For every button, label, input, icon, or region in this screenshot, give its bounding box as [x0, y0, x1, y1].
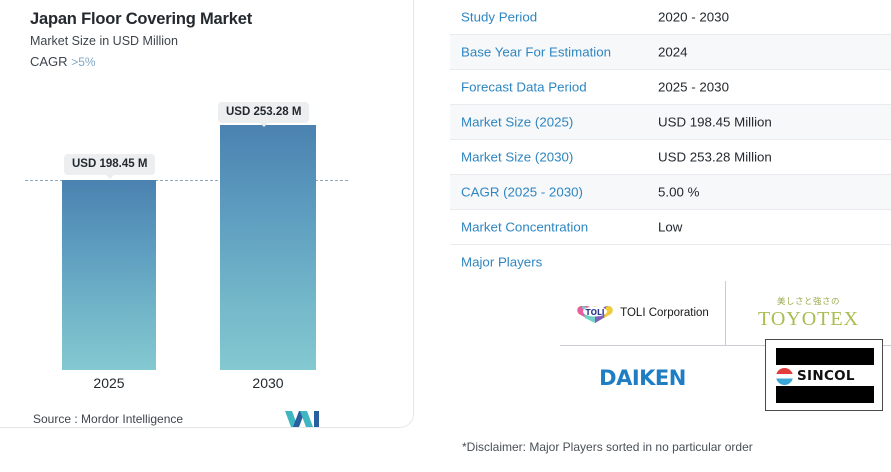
row-key: Market Concentration — [461, 220, 588, 235]
daiken-logo: DAIKEN — [599, 366, 686, 390]
source-text: Source : Mordor Intelligence — [33, 412, 183, 426]
sincol-bar-top — [776, 348, 874, 365]
table-row: Market Concentration Low — [450, 210, 891, 245]
table-row: Market Size (2025) USD 198.45 Million — [450, 105, 891, 140]
bar-2025 — [62, 180, 156, 370]
row-value: 2025 - 2030 — [658, 80, 729, 95]
logo-cell-toyotex: 美しさと強さの TOYOTEX — [726, 281, 891, 345]
sincol-name: SINCOL — [797, 368, 855, 384]
toyotex-name: TOYOTEX — [758, 309, 859, 329]
sincol-bar-bottom — [776, 386, 874, 403]
row-key: Market Size (2030) — [461, 150, 573, 165]
row-key: Study Period — [461, 10, 537, 25]
row-value: 2024 — [658, 45, 688, 60]
row-key: Market Size (2025) — [461, 115, 573, 130]
table-row: Study Period 2020 - 2030 — [450, 0, 891, 35]
major-players-row: Major Players — [450, 245, 891, 279]
sincol-mid: SINCOL — [776, 367, 874, 385]
row-key: Forecast Data Period — [461, 80, 587, 95]
bar-value-label-2025: USD 198.45 M — [64, 154, 155, 175]
x-axis-tick-2025: 2025 — [62, 375, 156, 391]
sincol-logo: SINCOL — [765, 339, 883, 411]
row-value: 2020 - 2030 — [658, 10, 729, 25]
row-value: Low — [658, 220, 682, 235]
logo-cell-daiken: DAIKEN — [560, 346, 725, 409]
sincol-mark-icon — [776, 368, 793, 385]
bar-value-label-2030: USD 253.28 M — [218, 102, 309, 123]
row-key: CAGR (2025 - 2030) — [461, 185, 583, 200]
bar-chart-plot: USD 198.45 M USD 253.28 M 2025 2030 — [0, 0, 414, 428]
major-players-label: Major Players — [461, 255, 542, 270]
table-row: Forecast Data Period 2025 - 2030 — [450, 70, 891, 105]
row-key: Base Year For Estimation — [461, 45, 611, 60]
chart-card: Japan Floor Covering Market Market Size … — [0, 0, 414, 428]
toyotex-tagline: 美しさと強さの — [758, 297, 859, 306]
toyotex-logo: 美しさと強さの TOYOTEX — [758, 297, 859, 329]
toli-name: TOLI Corporation — [620, 307, 709, 319]
toli-logo-icon: TOLI — [576, 302, 614, 324]
x-axis-tick-2030: 2030 — [220, 375, 316, 391]
row-value: USD 198.45 Million — [658, 115, 772, 130]
table-row: CAGR (2025 - 2030) 5.00 % — [450, 175, 891, 210]
table-row: Market Size (2030) USD 253.28 Million — [450, 140, 891, 175]
logo-cell-toli: TOLI TOLI Corporation — [560, 281, 725, 345]
row-value: USD 253.28 Million — [658, 150, 772, 165]
table-row: Base Year For Estimation 2024 — [450, 35, 891, 70]
major-players-logo-grid: TOLI TOLI Corporation 美しさと強さの TOYOTEX DA… — [560, 281, 891, 409]
info-panel: Study Period 2020 - 2030 Base Year For E… — [450, 0, 891, 472]
disclaimer-text: *Disclaimer: Major Players sorted in no … — [462, 440, 753, 454]
bar-2030 — [220, 125, 316, 370]
row-value: 5.00 % — [658, 185, 699, 200]
mordor-intelligence-logo-icon — [285, 410, 319, 428]
svg-text:TOLI: TOLI — [586, 308, 605, 317]
toli-logo: TOLI TOLI Corporation — [576, 302, 709, 324]
